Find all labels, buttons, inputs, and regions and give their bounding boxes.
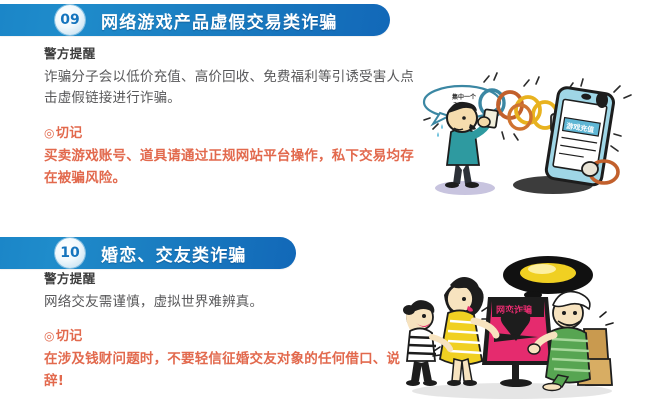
section-10-subhead: 警方提醒 (44, 271, 416, 287)
section-09: 09 网络游戏产品虚假交易类诈骗 警方提醒 诈骗分子会以低价充值、高价回收、免费… (0, 0, 645, 225)
section-10-text-block: 警方提醒 网络交友需谨慎，虚拟世界难辨真。 ◎切记 在涉及钱财问题时，不要轻信征… (44, 271, 416, 393)
section-10-warn-head: ◎切记 (44, 329, 416, 345)
section-10-number: 10 (60, 246, 79, 260)
section-09-text-block: 警方提醒 诈骗分子会以低价充值、高价回收、免费福利等引诱受害人点击虚假链接进行诈… (44, 46, 416, 190)
section-10-body: 网络交友需谨慎，虚拟世界难辨真。 (44, 292, 416, 314)
section-10-title: 婚恋、交友类诈骗 (101, 241, 247, 266)
section-09-body: 诈骗分子会以低价充值、高价回收、免费福利等引诱受害人点击虚假链接进行诈骗。 (44, 67, 416, 111)
section-09-banner: 09 网络游戏产品虚假交易类诈骗 (0, 4, 390, 36)
section-10-number-badge: 10 (55, 238, 85, 268)
section-09-warn-head: ◎切记 (44, 126, 416, 142)
section-10-illustration: 网恋诈骗 (372, 255, 644, 407)
section-10-warn-body: 在涉及钱财问题时，不要轻信征婚交友对象的任何借口、说辞! (44, 349, 416, 393)
section-09-warn-body: 买卖游戏账号、道具请通过正规网站平台操作，私下交易均存在被骗风险。 (44, 146, 416, 190)
section-09-title: 网络游戏产品虚假交易类诈骗 (101, 8, 338, 33)
section-09-number-badge: 09 (55, 5, 85, 35)
warn-mark-icon: ◎ (44, 126, 55, 140)
section-10-banner: 10 婚恋、交友类诈骗 (0, 237, 296, 269)
warn-mark-icon: ◎ (44, 329, 55, 343)
poster-page: 09 网络游戏产品虚假交易类诈骗 警方提醒 诈骗分子会以低价充值、高价回收、免费… (0, 0, 645, 408)
svg-text:集中一个: 集中一个 (451, 93, 477, 101)
section-09-subhead: 警方提醒 (44, 46, 416, 62)
section-10: 10 婚恋、交友类诈骗 警方提醒 网络交友需谨慎，虚拟世界难辨真。 ◎切记 在涉… (0, 233, 645, 408)
section-10-warn-head-label: 切记 (56, 329, 83, 345)
section-09-warn-head-label: 切记 (56, 126, 83, 142)
section-09-illustration: 集中一个 ? (418, 72, 643, 200)
section-09-number: 09 (60, 13, 79, 27)
